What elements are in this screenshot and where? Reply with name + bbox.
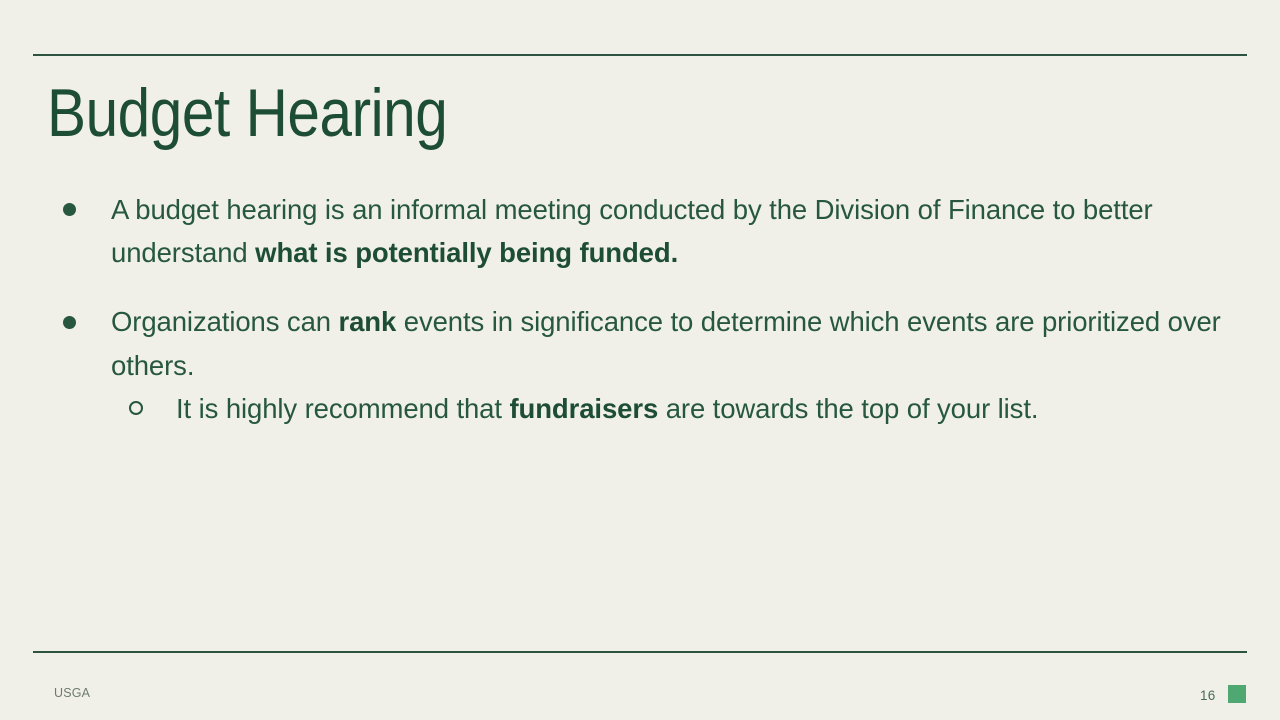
bullet-segment: Organizations can [111,306,339,337]
list-item-text: Organizations can rank events in signifi… [111,306,1221,380]
divider-bottom [33,651,1247,653]
list-item: Organizations can rank events in signifi… [47,300,1247,430]
circle-bullet-icon [129,387,145,430]
disc-bullet-icon [63,300,79,343]
list-item: A budget hearing is an informal meeting … [47,188,1247,274]
bullet-segment-bold: fundraisers [509,393,658,424]
bullet-list: A budget hearing is an informal meeting … [47,188,1247,430]
list-item-text: A budget hearing is an informal meeting … [111,194,1153,268]
bullet-segment-bold: what is potentially being funded. [255,237,678,268]
page-number: 16 [1200,688,1216,703]
bullet-segment: It is highly recommend that [176,393,509,424]
accent-square-icon [1228,685,1246,703]
sub-bullet-list: It is highly recommend that fundraisers … [111,387,1247,430]
page-title: Budget Hearing [47,78,447,149]
slide-body: A budget hearing is an informal meeting … [47,188,1247,430]
footer-organization: USGA [54,686,90,700]
slide: Budget Hearing A budget hearing is an in… [0,0,1280,720]
bullet-segment: are towards the top of your list. [658,393,1038,424]
divider-top [33,54,1247,56]
sub-list-item-text: It is highly recommend that fundraisers … [176,393,1038,424]
sub-list-item: It is highly recommend that fundraisers … [111,387,1247,430]
disc-bullet-icon [63,188,79,231]
bullet-segment-bold: rank [339,306,397,337]
